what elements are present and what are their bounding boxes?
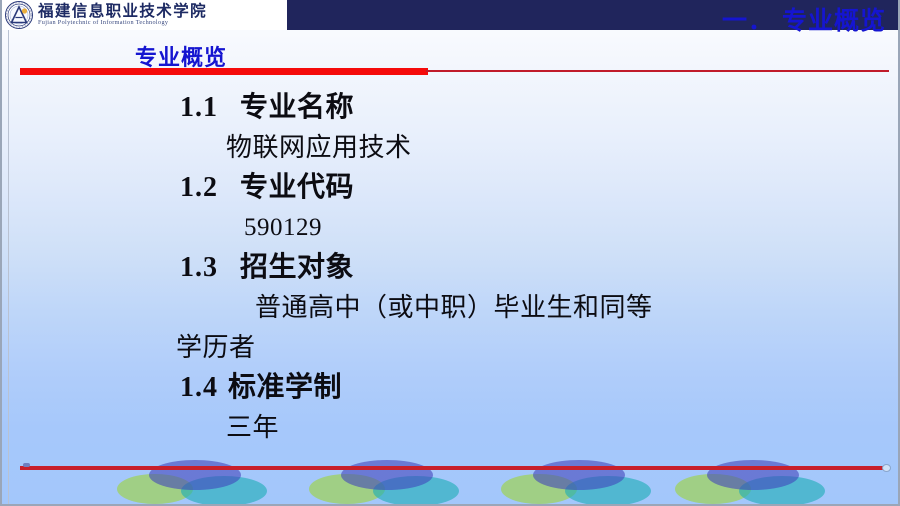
- university-seal-icon: [4, 0, 34, 30]
- item-number-1-3: 1.3: [180, 252, 218, 283]
- item-value-1-3-line1: 普通高中（或中职）毕业生和同等: [255, 288, 900, 328]
- item-number-1-2: 1.2: [180, 172, 218, 203]
- ellipse-purple-icon: [707, 460, 799, 490]
- item-title-1-1: 专业名称: [240, 92, 354, 123]
- item-heading-1-3: 1.3招生对象: [180, 248, 900, 288]
- institution-logo: 福建信息职业技术学院 Fujian Polytechnic of Informa…: [2, 0, 287, 30]
- title-rule-thick: [20, 68, 428, 75]
- item-number-1-4: 1.4: [180, 372, 218, 403]
- slide: 福建信息职业技术学院 Fujian Polytechnic of Informa…: [0, 0, 900, 506]
- footer-rule: [20, 466, 890, 470]
- item-heading-1-2: 1.2专业代码: [180, 168, 900, 208]
- ellipse-purple-icon: [533, 460, 625, 490]
- item-value-1-4: 三年: [226, 408, 900, 448]
- title-rule-thin: [426, 70, 889, 72]
- logo-name-en: Fujian Polytechnic of Information Techno…: [38, 20, 207, 26]
- item-heading-1-1: 1.1专业名称: [180, 88, 900, 128]
- logo-name-cn: 福建信息职业技术学院: [38, 4, 207, 20]
- item-value-1-3-line2: 学历者: [176, 328, 900, 368]
- item-title-1-4: 标准学制: [228, 372, 342, 403]
- item-value-1-2: 590129: [244, 208, 900, 248]
- chapter-label: 一． 专业概览: [722, 1, 886, 37]
- logo-text: 福建信息职业技术学院 Fujian Polytechnic of Informa…: [38, 4, 207, 27]
- footer-rule-cap-right: [882, 464, 891, 472]
- footer-rule-cap-left: [23, 463, 30, 467]
- item-title-1-3: 招生对象: [240, 252, 354, 283]
- item-heading-1-4: 1.4标准学制: [180, 368, 900, 408]
- item-value-1-1: 物联网应用技术: [226, 128, 900, 168]
- item-number-1-1: 1.1: [180, 92, 218, 123]
- content-body: 1.1专业名称 物联网应用技术 1.2专业代码 590129 1.3招生对象 普…: [2, 88, 900, 448]
- ellipse-purple-icon: [149, 460, 241, 490]
- item-title-1-2: 专业代码: [240, 172, 354, 203]
- ellipse-purple-icon: [341, 460, 433, 490]
